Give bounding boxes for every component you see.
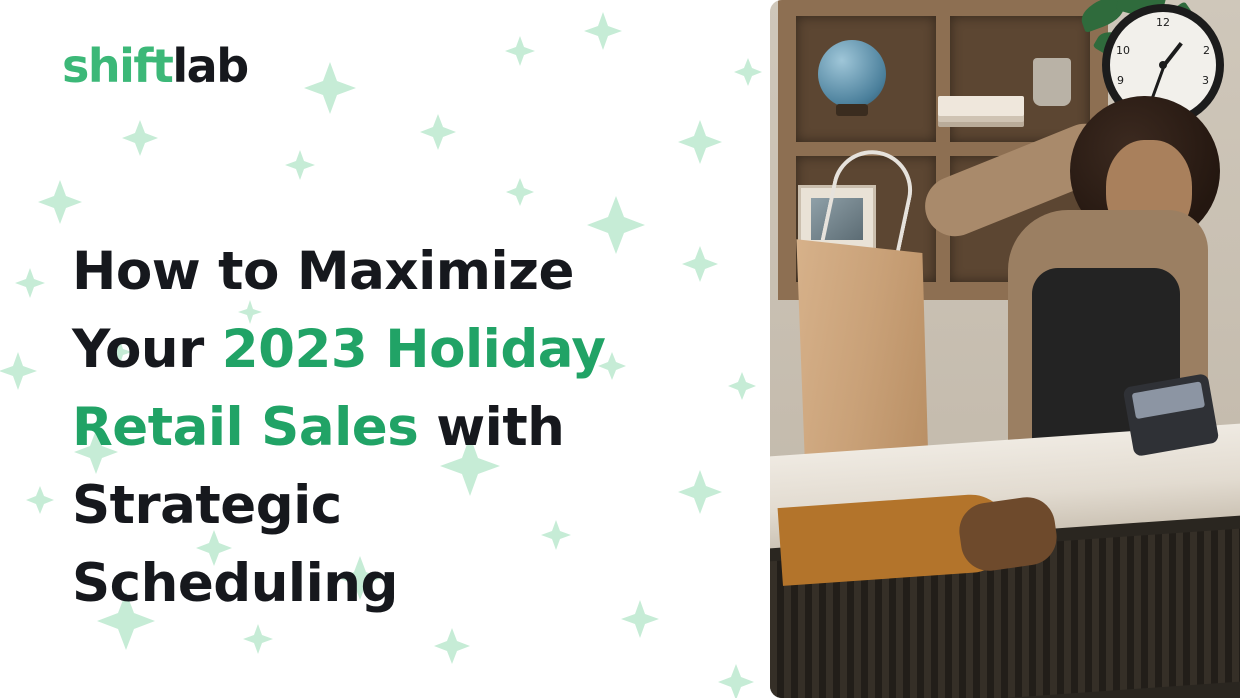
- headline-line-2-accent: 2023 Holiday: [222, 319, 606, 380]
- globe-stand: [836, 104, 868, 116]
- clock-number: 12: [1156, 16, 1170, 29]
- left-content-panel: shiftlab How to Maximize Your 2023 Holid…: [0, 0, 770, 698]
- globe-decor: [818, 40, 886, 108]
- clock-number: 9: [1117, 74, 1124, 87]
- blog-header-banner: shiftlab How to Maximize Your 2023 Holid…: [0, 0, 1240, 698]
- page-title: How to Maximize Your 2023 Holiday Retail…: [72, 233, 682, 623]
- headline-line-4: Strategic Scheduling: [72, 475, 398, 614]
- headline-line-3-suffix: with: [418, 397, 564, 458]
- headline-line-1: How to Maximize: [72, 241, 574, 302]
- terminal-screen: [1132, 381, 1205, 419]
- logo-text-lab: lab: [172, 39, 247, 93]
- hero-photo-scene: 12 2 3 6 9 10: [770, 0, 1240, 698]
- clock-center-pin: [1159, 61, 1167, 69]
- clock-number: 3: [1202, 74, 1209, 87]
- headline-line-2-prefix: Your: [72, 319, 222, 380]
- shiftlab-logo[interactable]: shiftlab: [62, 40, 248, 92]
- clock-number: 10: [1116, 44, 1130, 57]
- book-stack-decor: [938, 96, 1024, 116]
- hero-photo: 12 2 3 6 9 10: [770, 0, 1240, 698]
- shopping-bag: [788, 230, 928, 460]
- card-payment-terminal: [1123, 373, 1220, 457]
- clock-number: 2: [1203, 44, 1210, 57]
- headline-line-3-accent: Retail Sales: [72, 397, 418, 458]
- cup-decor: [1033, 58, 1071, 106]
- logo-text-shift: shift: [62, 39, 172, 93]
